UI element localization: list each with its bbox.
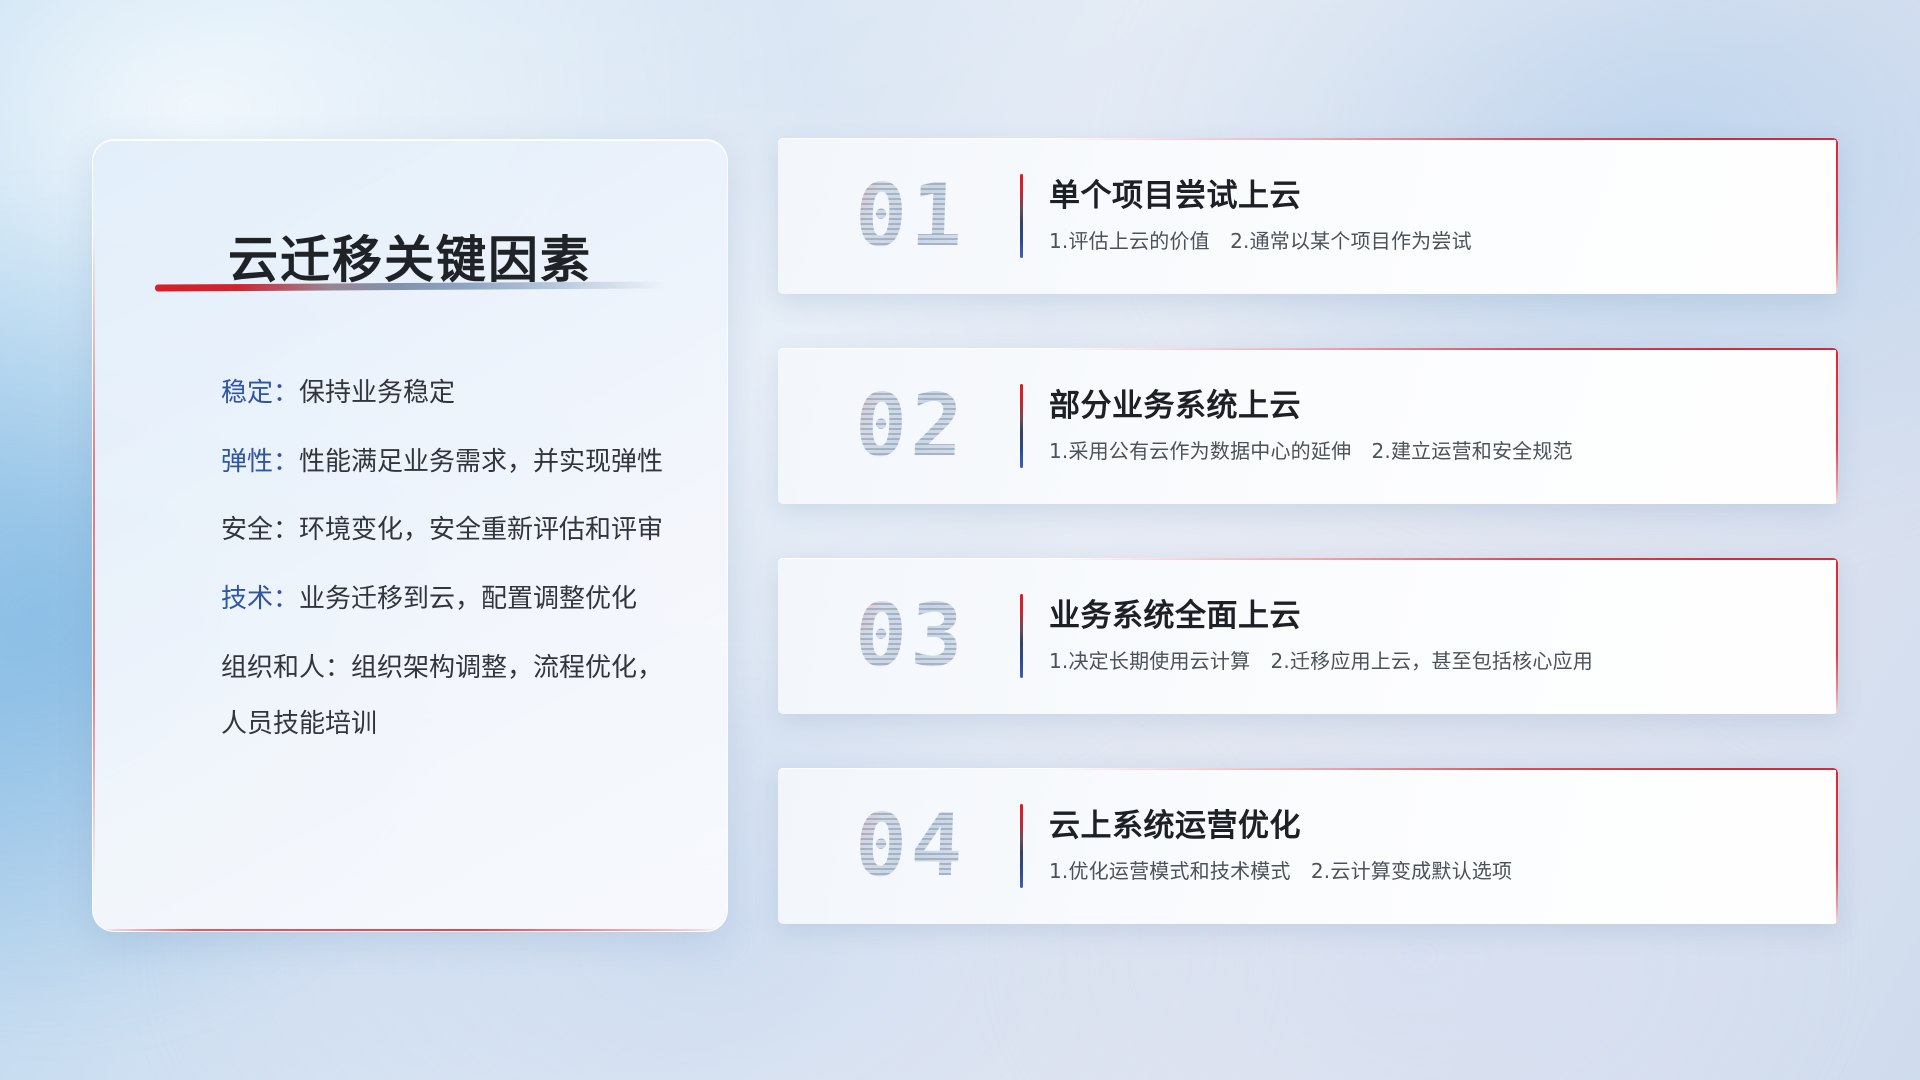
stage-card-text: 单个项目尝试上云 1.评估上云的价值 2.通常以某个项目作为尝试 <box>1049 178 1838 253</box>
list-item-value: 业务迁移到云，配置调整优化 <box>299 584 637 614</box>
stage-number-04: 04 04 <box>806 796 1016 896</box>
stage-number-01: 01 01 <box>806 166 1016 266</box>
stage-card-text: 业务系统全面上云 1.决定长期使用云计算 2.迁移应用上云，甚至包括核心应用 <box>1049 598 1838 673</box>
stage-number-text: 03 <box>854 593 969 679</box>
list-item-key: 弹性： <box>221 447 299 477</box>
stage-card-02[interactable]: 02 02 部分业务系统上云 1.采用公有云作为数据中心的延伸 2.建立运营和安… <box>778 348 1838 504</box>
stage-card-inner: 02 02 部分业务系统上云 1.采用公有云作为数据中心的延伸 2.建立运营和安… <box>778 348 1838 504</box>
stage-card-01[interactable]: 01 01 单个项目尝试上云 1.评估上云的价值 2.通常以某个项目作为尝试 <box>778 138 1838 294</box>
stage-card-title: 业务系统全面上云 <box>1049 598 1802 635</box>
stage-number-03: 03 03 <box>806 586 1016 686</box>
list-item-value: 保持业务稳定 <box>299 378 455 408</box>
key-factors-list: 稳定：保持业务稳定 弹性：性能满足业务需求，并实现弹性 安全：环境变化，安全重新… <box>221 378 687 778</box>
stage-card-title: 单个项目尝试上云 <box>1049 178 1802 215</box>
stage-cards-list: 01 01 单个项目尝试上云 1.评估上云的价值 2.通常以某个项目作为尝试 0… <box>778 138 1838 978</box>
stage-card-description: 1.评估上云的价值 2.通常以某个项目作为尝试 <box>1049 229 1802 254</box>
stage-number-text: 02 <box>854 383 969 469</box>
list-item-continuation: 人员技能培训 <box>221 709 687 740</box>
stage-card-description: 1.决定长期使用云计算 2.迁移应用上云，甚至包括核心应用 <box>1049 649 1802 674</box>
stage-card-accent-bar <box>1020 384 1023 468</box>
list-item: 组织和人：组织架构调整，流程优化， <box>221 653 687 684</box>
stage-card-text: 部分业务系统上云 1.采用公有云作为数据中心的延伸 2.建立运营和安全规范 <box>1049 388 1838 463</box>
stage-card-inner: 04 04 云上系统运营优化 1.优化运营模式和技术模式 2.云计算变成默认选项 <box>778 768 1838 924</box>
slide-stage: 云迁移关键因素 稳定：保持业务稳定 弹性：性能满足业务需求，并实现弹性 安全：环… <box>0 0 1920 1080</box>
list-item-key: 组织和人： <box>221 653 351 683</box>
stage-card-inner: 03 03 业务系统全面上云 1.决定长期使用云计算 2.迁移应用上云，甚至包括… <box>778 558 1838 714</box>
list-item: 技术：业务迁移到云，配置调整优化 <box>221 584 687 615</box>
stage-number-text: 04 <box>854 803 969 889</box>
stage-card-title: 部分业务系统上云 <box>1049 388 1802 425</box>
stage-card-03[interactable]: 03 03 业务系统全面上云 1.决定长期使用云计算 2.迁移应用上云，甚至包括… <box>778 558 1838 714</box>
stage-card-title: 云上系统运营优化 <box>1049 808 1802 845</box>
list-item: 弹性：性能满足业务需求，并实现弹性 <box>221 447 687 478</box>
stage-card-accent-bar <box>1020 804 1023 888</box>
list-item: 稳定：保持业务稳定 <box>221 378 687 409</box>
list-item-value: 组织架构调整，流程优化， <box>351 653 663 683</box>
stage-card-accent-bar <box>1020 594 1023 678</box>
list-item-value: 性能满足业务需求，并实现弹性 <box>299 447 663 477</box>
list-item: 安全：环境变化，安全重新评估和评审 <box>221 515 687 546</box>
list-item-value: 人员技能培训 <box>221 709 377 739</box>
stage-number-text: 01 <box>854 173 969 259</box>
stage-card-inner: 01 01 单个项目尝试上云 1.评估上云的价值 2.通常以某个项目作为尝试 <box>778 138 1838 294</box>
stage-number-02: 02 02 <box>806 376 1016 476</box>
stage-card-accent-bar <box>1020 174 1023 258</box>
stage-card-text: 云上系统运营优化 1.优化运营模式和技术模式 2.云计算变成默认选项 <box>1049 808 1838 883</box>
stage-card-description: 1.优化运营模式和技术模式 2.云计算变成默认选项 <box>1049 859 1802 884</box>
key-factors-panel: 云迁移关键因素 稳定：保持业务稳定 弹性：性能满足业务需求，并实现弹性 安全：环… <box>92 139 728 932</box>
list-item-value: 环境变化，安全重新评估和评审 <box>299 515 663 545</box>
stage-card-04[interactable]: 04 04 云上系统运营优化 1.优化运营模式和技术模式 2.云计算变成默认选项 <box>778 768 1838 924</box>
list-item-key: 安全： <box>221 515 299 545</box>
list-item-key: 稳定： <box>221 378 299 408</box>
list-item-key: 技术： <box>221 584 299 614</box>
stage-card-description: 1.采用公有云作为数据中心的延伸 2.建立运营和安全规范 <box>1049 439 1802 464</box>
